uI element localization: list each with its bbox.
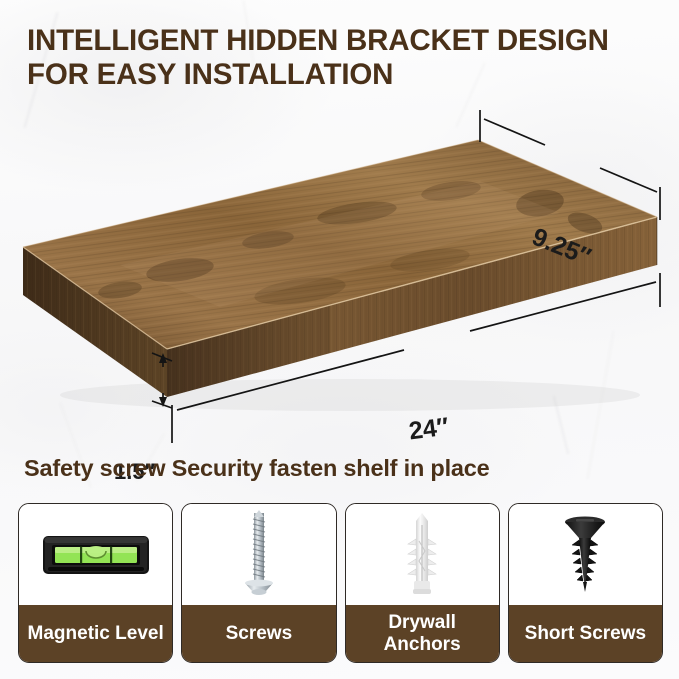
section-subtitle: Safety screw Security fasten shelf in pl… <box>24 455 490 482</box>
accessory-card-magnetic-level[interactable]: Magnetic Level <box>18 503 173 663</box>
shelf-illustration <box>0 95 679 445</box>
product-infographic: INTELLIGENT HIDDEN BRACKET DESIGN FOR EA… <box>0 0 679 679</box>
page-title: INTELLIGENT HIDDEN BRACKET DESIGN FOR EA… <box>27 24 667 92</box>
long-screw-icon <box>237 509 281 601</box>
card-label: Screws <box>182 605 335 662</box>
short-screw-icon <box>554 512 616 598</box>
length-dimension-label: 24″ <box>407 413 450 447</box>
card-label: Magnetic Level <box>19 605 172 662</box>
card-media <box>509 504 662 605</box>
accessory-card-short-screws[interactable]: Short Screws <box>508 503 663 663</box>
card-media <box>19 504 172 605</box>
card-media <box>346 504 499 605</box>
magnetic-level-icon <box>42 532 150 578</box>
accessory-card-row: Magnetic Level <box>18 503 663 663</box>
card-media <box>182 504 335 605</box>
card-label: Short Screws <box>509 605 662 662</box>
shelf-dimension-figure: 9.25″ 24″ 1.5″ <box>0 95 679 445</box>
accessory-card-screws[interactable]: Screws <box>181 503 336 663</box>
card-label: Drywall Anchors <box>346 605 499 662</box>
accessory-card-drywall-anchors[interactable]: Drywall Anchors <box>345 503 500 663</box>
drywall-anchor-icon <box>395 511 449 599</box>
